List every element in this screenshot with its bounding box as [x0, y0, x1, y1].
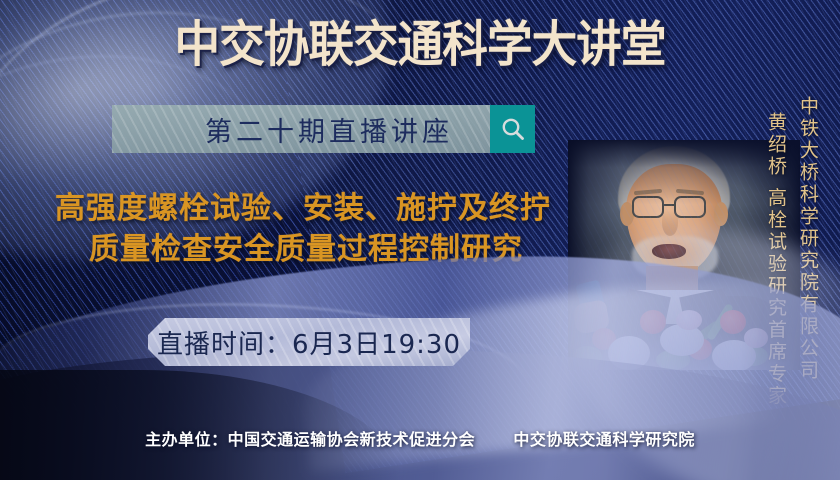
lecture-title-line-1: 高强度螺栓试验、安装、施拧及终拧 — [8, 188, 598, 229]
page-title: 中交协联交通科学大讲堂 — [29, 20, 810, 69]
organizer-primary: 主办单位：中国交通运输协会新技术促进分会 — [145, 430, 475, 449]
episode-banner: 第二十期直播讲座 — [112, 105, 490, 153]
episode-label: 第二十期直播讲座 — [112, 105, 490, 153]
broadcast-time-badge: 直播时间：6月3日19:30 — [148, 318, 470, 366]
organizer-footer: 主办单位：中国交通运输协会新技术促进分会 中交协联交通科学研究院 — [0, 426, 840, 450]
search-icon — [500, 116, 526, 142]
organizer-secondary: 中交协联交通科学研究院 — [513, 430, 695, 449]
broadcast-time-label: 直播时间：6月3日19:30 — [148, 318, 470, 366]
search-button[interactable] — [490, 105, 535, 153]
webinar-poster: 中铁大桥科学研究院有限公司 黄绍桥 高栓试验研究首席专家 中交协联交通科学大讲堂… — [0, 0, 840, 480]
